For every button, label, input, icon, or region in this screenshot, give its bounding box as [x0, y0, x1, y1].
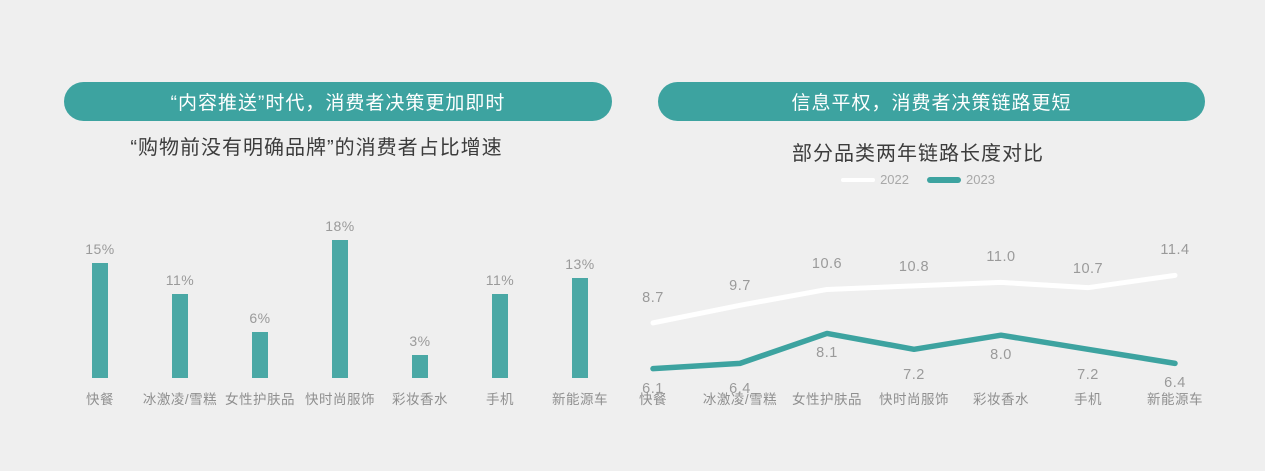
line-axis-label: 快时尚服饰	[879, 388, 949, 408]
bar-value-label: 3%	[380, 333, 460, 349]
bar-group: 18%快时尚服饰	[300, 196, 380, 426]
bar-chart: 15%快餐11%冰激凌/雪糕6%女性护肤品18%快时尚服饰3%彩妆香水11%手机…	[60, 196, 620, 426]
bar-rect	[92, 263, 108, 378]
line-point-label: 10.6	[812, 256, 842, 272]
line-point-label: 7.2	[1077, 367, 1099, 383]
right-panel-subtitle: 部分品类两年链路长度对比	[602, 137, 1234, 166]
line-axis-label: 冰激凌/雪糕	[703, 388, 777, 408]
bar-rect	[172, 294, 188, 378]
bar-value-label: 15%	[60, 241, 140, 257]
line-chart-legend: 2022 2023	[602, 172, 1234, 187]
bar-group: 6%女性护肤品	[220, 196, 300, 426]
bar-axis-label: 冰激凌/雪糕	[140, 388, 220, 408]
line-point-label: 8.7	[642, 290, 664, 306]
line-point-label: 10.8	[899, 259, 929, 275]
bar-rect	[492, 294, 508, 378]
bar-rect	[572, 278, 588, 378]
bar-value-label: 11%	[140, 272, 220, 288]
line-point-label: 11.0	[986, 249, 1015, 265]
left-panel-subtitle: “购物前没有明确品牌”的消费者占比增速	[0, 131, 633, 160]
bar-axis-label: 手机	[460, 388, 540, 408]
legend-swatch-2023-icon	[927, 177, 961, 183]
bar-group: 15%快餐	[60, 196, 140, 426]
left-panel-pill-title: “内容推送”时代，消费者决策更加即时	[64, 82, 612, 121]
infographic-stage: “内容推送”时代，消费者决策更加即时 “购物前没有明确品牌”的消费者占比增速 1…	[0, 0, 1265, 471]
line-series-2023	[653, 333, 1175, 368]
legend-label-2022: 2022	[880, 172, 909, 187]
right-panel: 信息平权，消费者决策链路更短 部分品类两年链路长度对比 2022 2023 8.…	[633, 0, 1265, 471]
line-point-label: 9.7	[729, 278, 751, 294]
bar-group: 11%冰激凌/雪糕	[140, 196, 220, 426]
left-panel: “内容推送”时代，消费者决策更加即时 “购物前没有明确品牌”的消费者占比增速 1…	[0, 0, 633, 471]
bar-rect	[332, 240, 348, 378]
line-point-label: 11.4	[1160, 242, 1189, 258]
line-axis-label: 彩妆香水	[973, 388, 1029, 408]
right-panel-pill-title: 信息平权，消费者决策链路更短	[658, 82, 1205, 121]
bar-rect	[412, 355, 428, 378]
bar-group: 3%彩妆香水	[380, 196, 460, 426]
bar-axis-label: 女性护肤品	[220, 388, 300, 408]
line-point-label: 7.2	[903, 367, 925, 383]
legend-item-2023: 2023	[927, 172, 995, 187]
line-axis-label: 新能源车	[1147, 388, 1203, 408]
bar-group: 13%新能源车	[540, 196, 620, 426]
bar-group: 11%手机	[460, 196, 540, 426]
line-axis-label: 手机	[1074, 388, 1102, 408]
bar-value-label: 11%	[460, 272, 540, 288]
line-point-label: 8.1	[816, 345, 838, 361]
bar-value-label: 13%	[540, 256, 620, 272]
line-chart: 8.79.710.610.811.010.711.46.16.48.17.28.…	[633, 196, 1265, 426]
line-point-label: 10.7	[1073, 261, 1103, 277]
legend-item-2022: 2022	[841, 172, 909, 187]
bar-rect	[252, 332, 268, 378]
legend-label-2023: 2023	[966, 172, 995, 187]
bar-value-label: 6%	[220, 310, 300, 326]
line-axis-label: 快餐	[639, 388, 667, 408]
bar-axis-label: 快餐	[60, 388, 140, 408]
line-point-label: 8.0	[990, 347, 1012, 363]
line-axis-label: 女性护肤品	[792, 388, 862, 408]
legend-swatch-2022-icon	[841, 178, 875, 182]
bar-axis-label: 新能源车	[540, 388, 620, 408]
bar-axis-label: 快时尚服饰	[300, 388, 380, 408]
bar-axis-label: 彩妆香水	[380, 388, 460, 408]
bar-value-label: 18%	[300, 218, 380, 234]
